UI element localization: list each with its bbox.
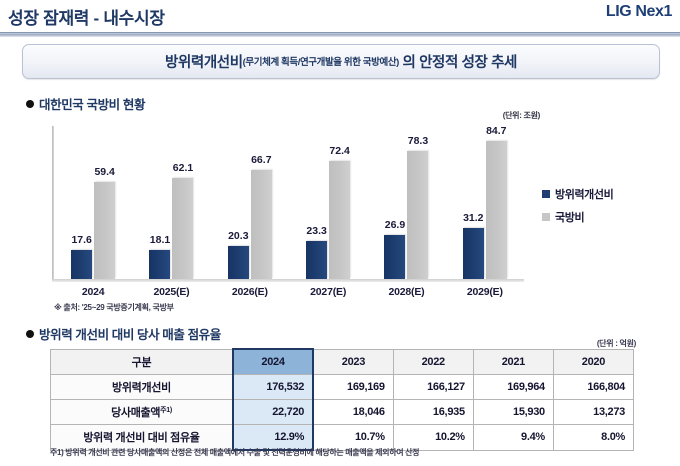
chart-x-axis xyxy=(52,279,524,282)
chart-bar-defense-total: 72.4 xyxy=(329,161,350,279)
table-cell: 169,169 xyxy=(313,375,393,400)
table-cell: 169,964 xyxy=(473,375,553,400)
chart-bar-value-label: 78.3 xyxy=(408,135,428,147)
banner-parenthetical: (무기체계 획득/연구개발을 위한 국방예산) xyxy=(243,57,399,68)
chart-bar-group: 26.978.3 xyxy=(367,129,445,279)
chart-bar-slot: 59.4 xyxy=(94,129,115,279)
chart-legend-label: 국방비 xyxy=(555,209,584,225)
chart-bar-defense-total: 62.1 xyxy=(172,178,193,279)
chart-bar-groups: 17.659.418.162.120.366.723.372.426.978.3… xyxy=(54,129,524,279)
section-heading-chart-label: 대한민국 국방비 현황 xyxy=(39,94,145,113)
chart-bar-defense-total: 78.3 xyxy=(407,151,428,279)
chart-bar-slot: 18.1 xyxy=(149,129,170,279)
chart-bar-slot: 17.6 xyxy=(71,129,92,279)
table-row-label: 당사매출액주1) xyxy=(51,400,234,425)
chart-x-tick-label: 2029(E) xyxy=(446,286,524,298)
table-cell: 176,532 xyxy=(233,375,313,400)
chart-bar-group: 20.366.7 xyxy=(211,129,289,279)
chart-bar-defense-total: 59.4 xyxy=(94,182,115,279)
market-share-table: 구분20242023202220212020 방위력개선비176,532169,… xyxy=(50,348,634,451)
chart-bar-value-label: 18.1 xyxy=(150,234,170,246)
page-header: 성장 잠재력 - 내수시장 LIG Nex1 xyxy=(0,0,680,36)
chart-bar-group: 23.372.4 xyxy=(289,129,367,279)
chart-bar-group: 17.659.4 xyxy=(54,129,132,279)
table-cell: 9.4% xyxy=(473,425,553,451)
header-divider xyxy=(0,32,680,37)
chart-x-tick-label: 2025(E) xyxy=(132,286,210,298)
legend-swatch-icon xyxy=(542,213,550,221)
chart-bar-slot: 62.1 xyxy=(172,129,193,279)
chart-bar-slot: 72.4 xyxy=(329,129,350,279)
chart-legend-item: 방위력개선비 xyxy=(542,186,613,202)
chart-bar-value-label: 31.2 xyxy=(463,212,483,224)
chart-source-note: ※ 출처: '25~29 국방중기계획, 국방부 xyxy=(54,302,174,313)
table-col-header-year: 2021 xyxy=(473,349,553,375)
table-header: 구분20242023202220212020 xyxy=(51,349,634,375)
chart-x-tick-label: 2024 xyxy=(54,286,132,298)
banner-term: 방위력개선비 xyxy=(165,55,243,71)
legend-swatch-icon xyxy=(542,190,550,198)
table-col-header-year: 2020 xyxy=(553,349,633,375)
chart-bar-slot: 78.3 xyxy=(407,129,428,279)
table-cell: 13,273 xyxy=(553,400,633,425)
table-col-header-year: 2023 xyxy=(313,349,393,375)
chart-x-tick-label: 2028(E) xyxy=(367,286,445,298)
chart-unit-label: (단위: 조원) xyxy=(503,110,540,121)
table-col-header-year: 2022 xyxy=(393,349,473,375)
chart-legend-label: 방위력개선비 xyxy=(555,186,613,202)
defense-budget-chart: (단위: 조원) 17.659.418.162.120.366.723.372.… xyxy=(52,112,658,292)
chart-bar-slot: 84.7 xyxy=(486,129,507,279)
page-title: 성장 잠재력 - 내수시장 xyxy=(8,4,165,29)
bullet-icon xyxy=(26,330,34,338)
table-col-header-label: 구분 xyxy=(51,349,234,375)
chart-bar-value-label: 59.4 xyxy=(94,166,114,178)
table-row: 당사매출액주1)22,72018,04616,93515,93013,273 xyxy=(51,400,634,425)
chart-bar-group: 31.284.7 xyxy=(446,129,524,279)
table-cell: 166,804 xyxy=(553,375,633,400)
chart-bar-value-label: 20.3 xyxy=(228,230,248,242)
chart-bar-value-label: 17.6 xyxy=(71,234,91,246)
table-cell: 166,127 xyxy=(393,375,473,400)
table-cell: 8.0% xyxy=(553,425,633,451)
chart-bar-defense-improvement: 23.3 xyxy=(306,241,327,279)
chart-bar-value-label: 62.1 xyxy=(173,162,193,174)
chart-x-tick-label: 2026(E) xyxy=(211,286,289,298)
table-body: 방위력개선비176,532169,169166,127169,964166,80… xyxy=(51,375,634,451)
headline-banner: 방위력개선비(무기체계 획득/연구개발을 위한 국방예산) 의 안정적 성장 추… xyxy=(22,44,660,79)
bullet-icon xyxy=(26,100,34,108)
table-cell: 18,046 xyxy=(313,400,393,425)
section-heading-table: 방위력 개선비 대비 당사 매출 점유율 xyxy=(26,324,221,343)
chart-bar-defense-improvement: 17.6 xyxy=(71,250,92,279)
table-row: 방위력개선비176,532169,169166,127169,964166,80… xyxy=(51,375,634,400)
table-col-header-year: 2024 xyxy=(233,349,313,375)
chart-plot-area: 17.659.418.162.120.366.723.372.426.978.3… xyxy=(52,126,524,282)
chart-bar-value-label: 23.3 xyxy=(306,225,326,237)
banner-tail: 의 안정적 성장 추세 xyxy=(399,55,517,71)
table-cell: 22,720 xyxy=(233,400,313,425)
chart-bar-slot: 66.7 xyxy=(251,129,272,279)
headline-banner-text: 방위력개선비(무기체계 획득/연구개발을 위한 국방예산) 의 안정적 성장 추… xyxy=(165,51,517,72)
chart-x-tick-label: 2027(E) xyxy=(289,286,367,298)
chart-bar-value-label: 26.9 xyxy=(385,219,405,231)
chart-bar-defense-total: 66.7 xyxy=(251,170,272,279)
chart-bar-value-label: 72.4 xyxy=(329,145,349,157)
table-cell: 16,935 xyxy=(393,400,473,425)
table-row-label: 방위력개선비 xyxy=(51,375,234,400)
chart-bar-group: 18.162.1 xyxy=(132,129,210,279)
chart-bar-defense-improvement: 31.2 xyxy=(463,228,484,279)
chart-bar-slot: 26.9 xyxy=(384,129,405,279)
table-footnote: 주1) 방위력 개선비 관련 당사매출액의 산정은 전체 매출액에서 수출 및 … xyxy=(50,447,419,458)
chart-bar-slot: 23.3 xyxy=(306,129,327,279)
table-header-row: 구분20242023202220212020 xyxy=(51,349,634,375)
chart-legend-item: 국방비 xyxy=(542,209,613,225)
chart-legend: 방위력개선비국방비 xyxy=(542,186,613,232)
section-heading-table-label: 방위력 개선비 대비 당사 매출 점유율 xyxy=(39,324,221,343)
brand-logo: LIG Nex1 xyxy=(606,3,672,21)
chart-bar-defense-improvement: 26.9 xyxy=(384,235,405,279)
chart-bar-value-label: 84.7 xyxy=(486,125,506,137)
table-row-label-superscript: 주1) xyxy=(160,407,172,414)
chart-x-tick-labels: 20242025(E)2026(E)2027(E)2028(E)2029(E) xyxy=(54,286,524,298)
chart-bar-slot: 31.2 xyxy=(463,129,484,279)
table-cell: 15,930 xyxy=(473,400,553,425)
chart-bar-defense-improvement: 20.3 xyxy=(228,246,249,279)
chart-bar-slot: 20.3 xyxy=(228,129,249,279)
chart-bar-defense-total: 84.7 xyxy=(486,141,507,279)
chart-bar-value-label: 66.7 xyxy=(251,154,271,166)
chart-bar-defense-improvement: 18.1 xyxy=(149,250,170,280)
section-heading-chart: 대한민국 국방비 현황 xyxy=(26,94,145,113)
